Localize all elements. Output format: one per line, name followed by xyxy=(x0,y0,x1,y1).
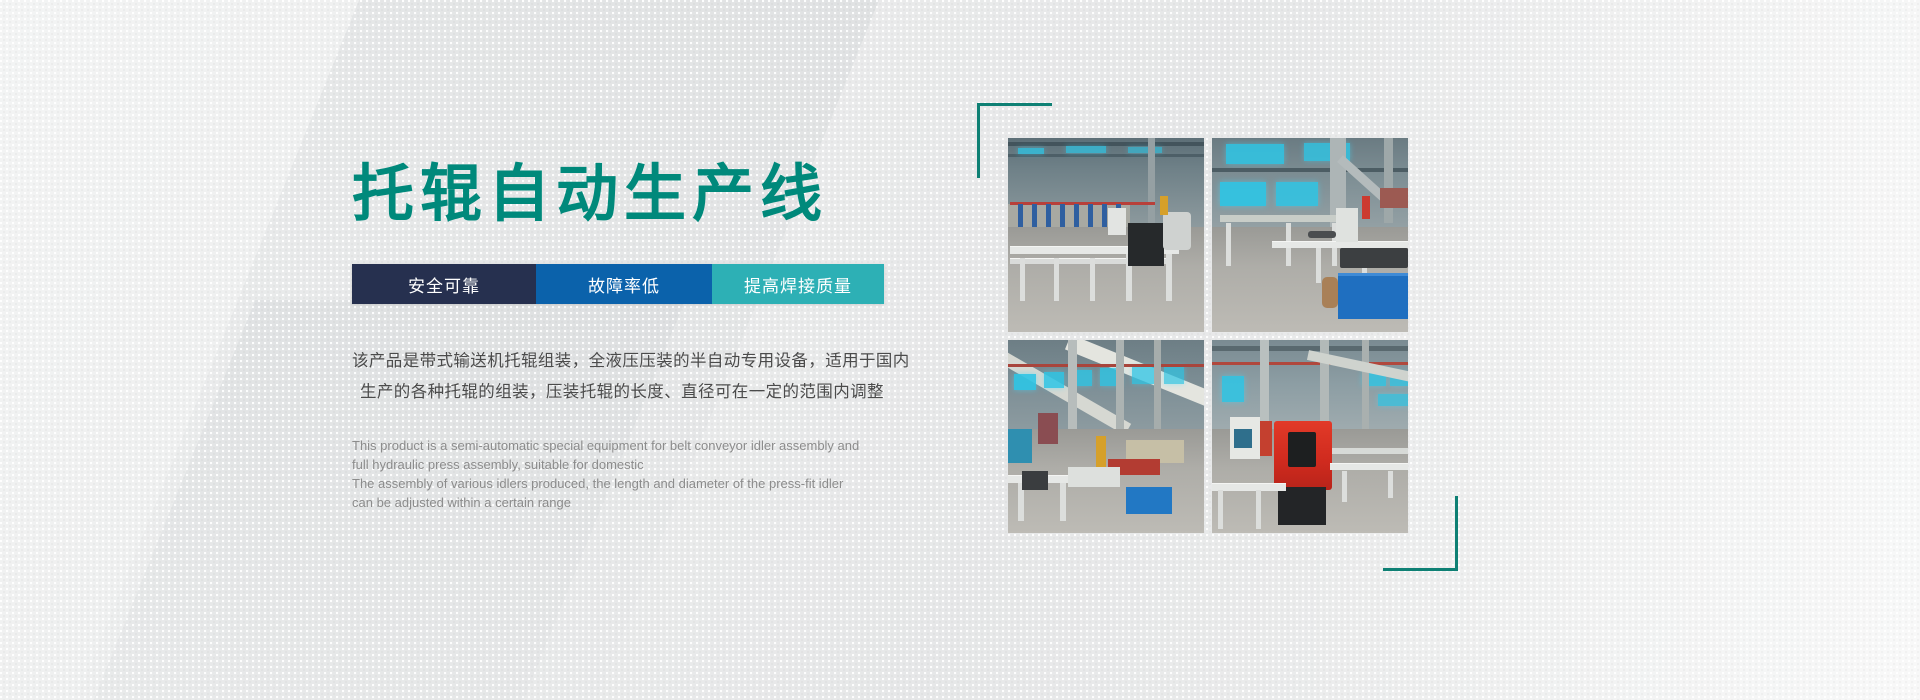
gallery-photo-1[interactable] xyxy=(1008,138,1204,332)
hero-text-column: 托辊自动生产线 安全可靠 故障率低 提高焊接质量 该产品是带式输送机托辊组装，全… xyxy=(352,160,972,512)
feature-tag-row: 安全可靠 故障率低 提高焊接质量 xyxy=(352,264,884,304)
product-hero-banner: 托辊自动生产线 安全可靠 故障率低 提高焊接质量 该产品是带式输送机托辊组装，全… xyxy=(0,0,1920,700)
product-photo-gallery xyxy=(1008,138,1408,533)
gallery-photo-4[interactable] xyxy=(1212,340,1408,534)
gallery-photo-3[interactable] xyxy=(1008,340,1204,534)
feature-tag-safety[interactable]: 安全可靠 xyxy=(352,264,536,304)
gallery-photo-2[interactable] xyxy=(1212,138,1408,332)
page-title: 托辊自动生产线 xyxy=(352,160,972,230)
description-english-line-2: full hydraulic press assembly, suitable … xyxy=(352,455,912,474)
description-chinese: 该产品是带式输送机托辊组装，全液压压装的半自动专用设备，适用于国内 生产的各种托… xyxy=(352,346,912,408)
description-chinese-line-2: 生产的各种托辊的组装，压装托辊的长度、直径可在一定的范围内调整 xyxy=(352,377,912,408)
description-chinese-line-1: 该产品是带式输送机托辊组装，全液压压装的半自动专用设备，适用于国内 xyxy=(352,346,912,377)
description-english-line-4: can be adjusted within a certain range xyxy=(352,493,912,512)
feature-tag-weld-quality[interactable]: 提高焊接质量 xyxy=(712,264,884,304)
description-english: This product is a semi-automatic special… xyxy=(352,436,912,512)
feature-tag-low-failure-rate[interactable]: 故障率低 xyxy=(536,264,712,304)
description-english-line-3: The assembly of various idlers produced,… xyxy=(352,474,912,493)
description-english-line-1: This product is a semi-automatic special… xyxy=(352,436,912,455)
